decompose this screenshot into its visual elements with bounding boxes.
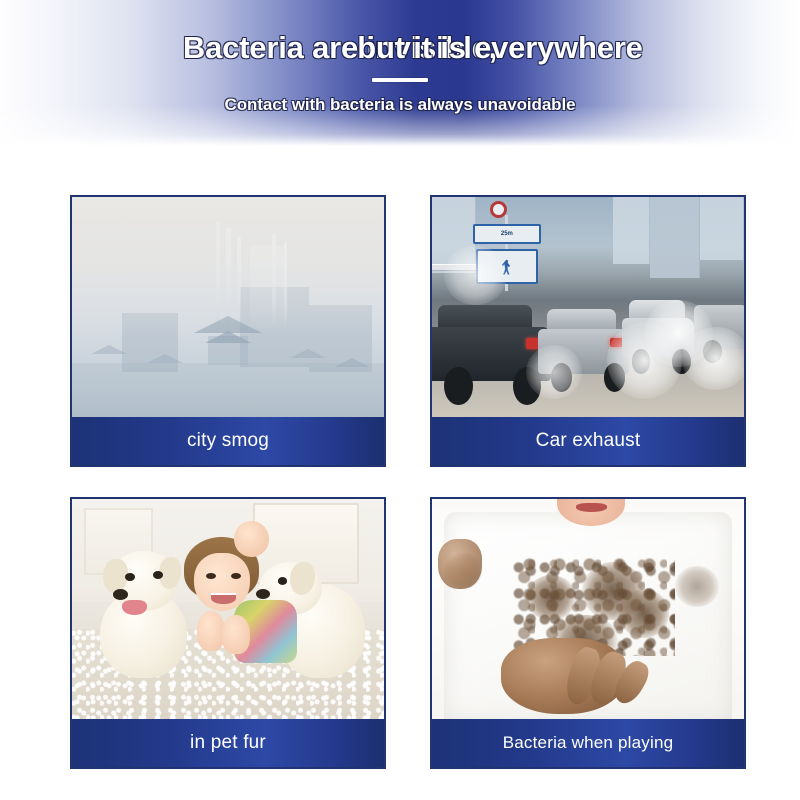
muddy-hand xyxy=(438,539,482,588)
muddy-hands-illustration xyxy=(432,499,744,723)
girl-hands xyxy=(197,611,225,651)
card-car-exhaust[interactable]: 25m xyxy=(430,195,746,467)
distance-sign-text: 25m xyxy=(501,231,513,237)
card-label-car-exhaust: Car exhaust xyxy=(432,417,744,465)
page-subtitle: Contact with bacteria is always unavoida… xyxy=(0,95,800,115)
hero-content: Bacteria are invisible, but it is everyw… xyxy=(0,0,800,115)
card-city-smog[interactable]: city smog xyxy=(70,195,386,467)
title-divider-icon xyxy=(372,78,428,82)
card-photo-car-exhaust: 25m xyxy=(432,197,744,421)
distance-sign: 25m xyxy=(473,224,542,244)
card-label-bacteria-when-playing: Bacteria when playing xyxy=(432,719,744,767)
card-photo-pet-fur xyxy=(72,499,384,723)
exhaust-smoke-plume xyxy=(682,327,744,390)
card-label-city-smog: city smog xyxy=(72,417,384,465)
traffic-scene-illustration: 25m xyxy=(432,197,744,421)
smog-scene-illustration xyxy=(72,197,384,421)
card-label-pet-fur: in pet fur xyxy=(72,719,384,767)
hero-banner: Bacteria are invisible, but it is everyw… xyxy=(0,0,800,146)
speed-limit-sign-icon xyxy=(490,201,507,218)
page-title: Bacteria are invisible, but it is everyw… xyxy=(0,26,800,74)
exhaust-smoke-plume xyxy=(526,345,582,399)
page-title-second-clause: but it is everywhere xyxy=(357,26,642,70)
card-photo-bacteria-when-playing xyxy=(432,499,744,723)
card-grid: city smog 25m xyxy=(0,146,800,769)
pets-scene-illustration xyxy=(72,499,384,723)
card-pet-fur[interactable]: in pet fur xyxy=(70,497,386,769)
card-photo-city-smog xyxy=(72,197,384,421)
exhaust-smoke-plume xyxy=(444,246,506,304)
card-bacteria-when-playing[interactable]: Bacteria when playing xyxy=(430,497,746,769)
smog-haze-overlay xyxy=(72,197,384,421)
